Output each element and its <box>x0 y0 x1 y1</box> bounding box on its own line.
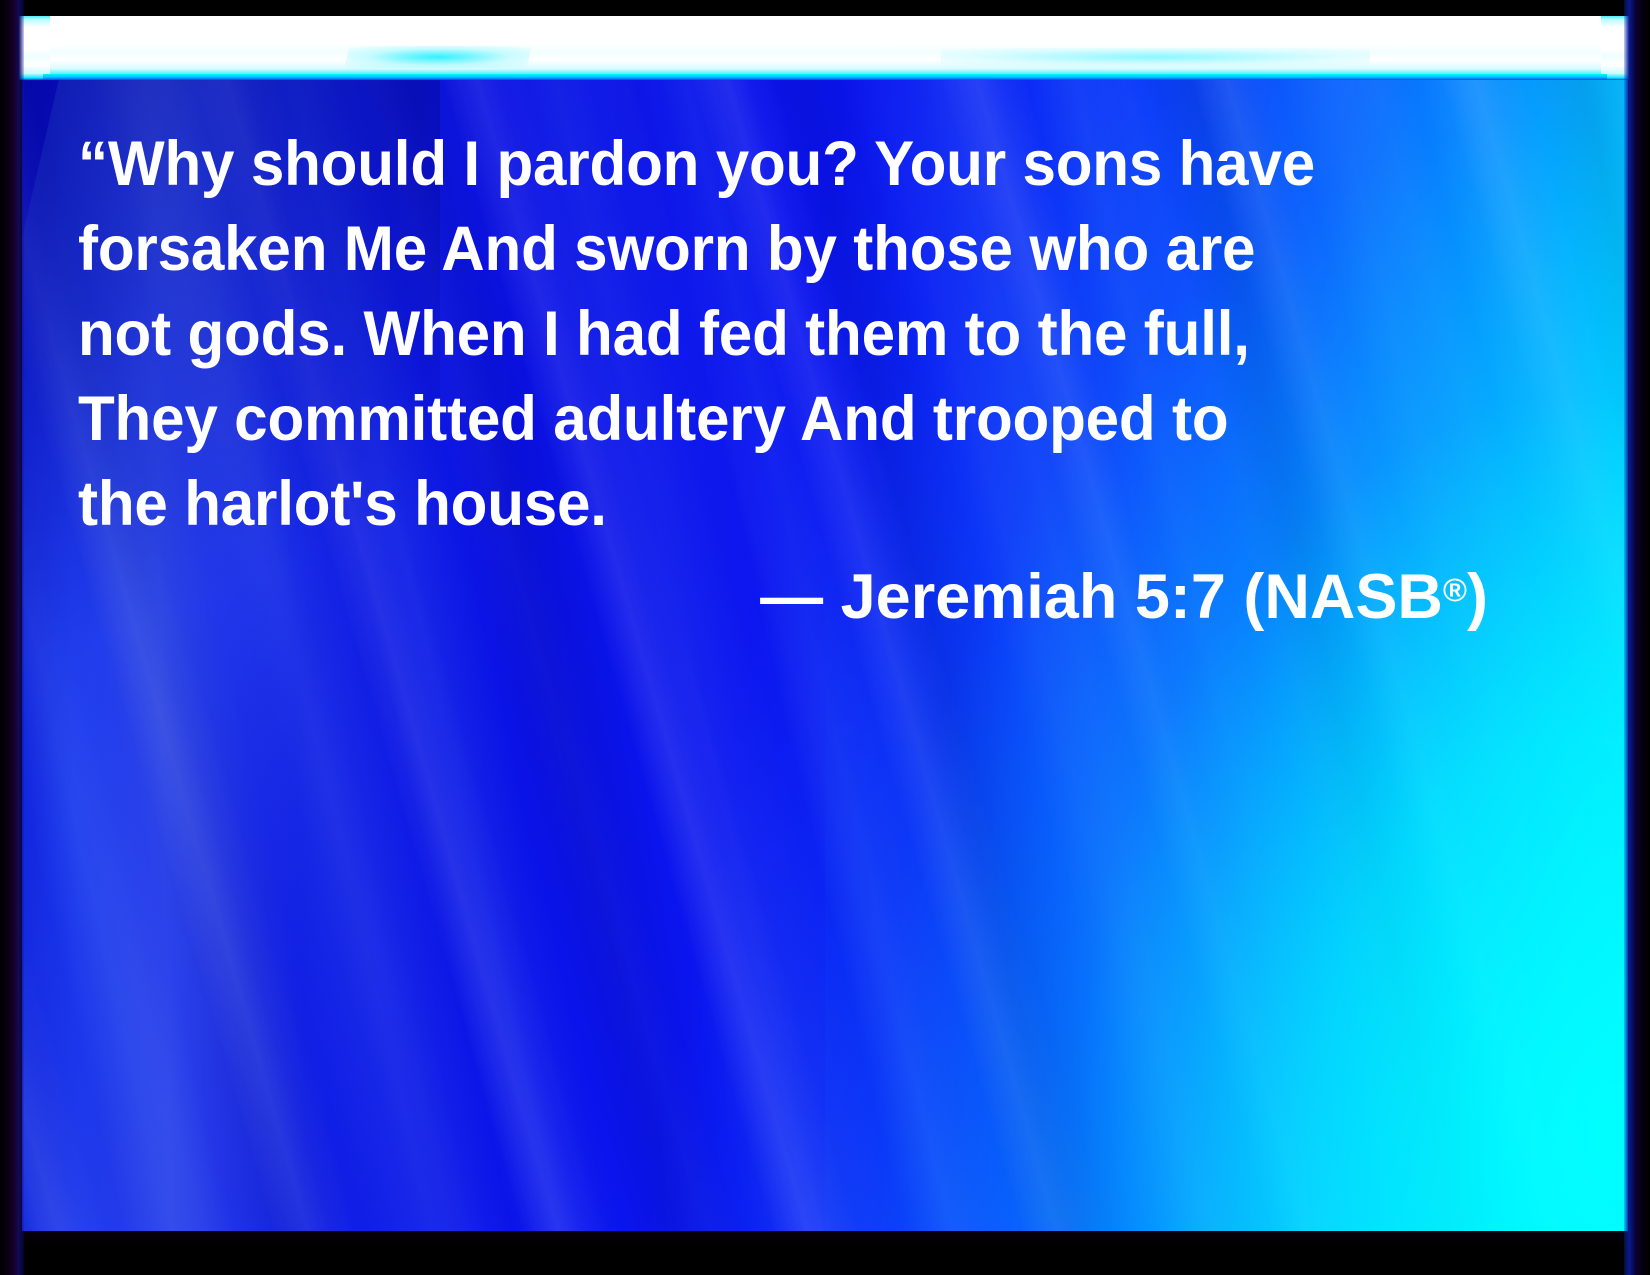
verse-text-block: “Why should I pardon you? Your sons have… <box>78 122 1498 547</box>
border-top <box>0 0 1650 16</box>
attribution-suffix: ) <box>1467 562 1488 632</box>
verse-attribution: — Jeremiah 5:7 (NASB®) <box>78 547 1488 640</box>
border-right <box>1624 0 1650 1275</box>
registered-trademark-icon: ® <box>1443 571 1467 608</box>
attribution-prefix: — Jeremiah 5:7 (NASB <box>760 562 1443 632</box>
verse-line-1: “Why should I pardon you? Your sons have <box>78 122 1434 207</box>
verse-line-2: forsaken Me And sworn by those who are <box>78 207 1434 292</box>
border-bottom <box>0 1231 1650 1275</box>
verse-line-5: the harlot's house. <box>78 462 1434 547</box>
scripture-slide: “Why should I pardon you? Your sons have… <box>0 0 1650 1275</box>
verse-line-3: not gods. When I had fed them to the ful… <box>78 292 1434 377</box>
border-left <box>0 0 24 1275</box>
verse-line-4: They committed adultery And trooped to <box>78 377 1434 462</box>
